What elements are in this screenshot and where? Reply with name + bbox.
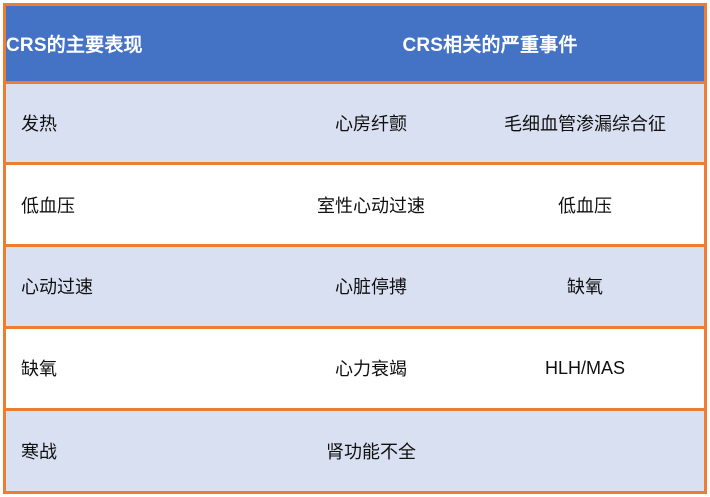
- table-row: 缺氧 心力衰竭 HLH/MAS: [6, 327, 704, 409]
- cell-manifestation: 寒战: [6, 409, 276, 491]
- crs-comparison-table: CRS的主要表现 CRS相关的严重事件 发热 心房纤颤 毛细血管渗漏综合征 低血…: [3, 3, 707, 494]
- table-row: 心动过速 心脏停搏 缺氧: [6, 246, 704, 328]
- table-header: CRS的主要表现 CRS相关的严重事件: [6, 6, 704, 82]
- cell-event-primary: 心脏停搏: [276, 246, 466, 328]
- cell-text: 室性心动过速: [317, 192, 425, 218]
- cell-event-secondary: 低血压: [466, 164, 704, 246]
- cell-event-primary: 室性心动过速: [276, 164, 466, 246]
- cell-event-secondary: 毛细血管渗漏综合征: [466, 82, 704, 164]
- table-row: 发热 心房纤颤 毛细血管渗漏综合征: [6, 82, 704, 164]
- cell-manifestation: 缺氧: [6, 327, 276, 409]
- cell-text: 心脏停搏: [335, 273, 407, 299]
- cell-manifestation: 发热: [6, 82, 276, 164]
- cell-text: 心房纤颤: [335, 110, 407, 136]
- cell-text: 发热: [21, 110, 57, 136]
- cell-text: 低血压: [558, 192, 612, 218]
- cell-event-primary: 心力衰竭: [276, 327, 466, 409]
- table-row: 寒战 肾功能不全: [6, 409, 704, 491]
- cell-event-secondary: 缺氧: [466, 246, 704, 328]
- cell-text: 心力衰竭: [335, 355, 407, 381]
- cell-manifestation: 心动过速: [6, 246, 276, 328]
- column-header-manifestations: CRS的主要表现: [6, 6, 276, 82]
- table-body: 发热 心房纤颤 毛细血管渗漏综合征 低血压 室性心动过速 低血压: [6, 82, 704, 491]
- cell-event-primary: 肾功能不全: [276, 409, 466, 491]
- cell-text: 缺氧: [567, 273, 603, 299]
- cell-manifestation: 低血压: [6, 164, 276, 246]
- cell-text: 缺氧: [21, 355, 57, 381]
- cell-text: 毛细血管渗漏综合征: [504, 110, 666, 136]
- cell-event-secondary: HLH/MAS: [466, 327, 704, 409]
- column-header-serious-events: CRS相关的严重事件: [276, 6, 704, 82]
- table: CRS的主要表现 CRS相关的严重事件 发热 心房纤颤 毛细血管渗漏综合征 低血…: [6, 6, 704, 491]
- cell-event-secondary: [466, 409, 704, 491]
- cell-text: 肾功能不全: [326, 438, 416, 464]
- cell-text: 寒战: [21, 438, 57, 464]
- table-row: 低血压 室性心动过速 低血压: [6, 164, 704, 246]
- table-header-row: CRS的主要表现 CRS相关的严重事件: [6, 6, 704, 82]
- cell-text: 心动过速: [21, 273, 93, 299]
- cell-event-primary: 心房纤颤: [276, 82, 466, 164]
- cell-text: HLH/MAS: [545, 358, 625, 379]
- cell-text: 低血压: [21, 192, 75, 218]
